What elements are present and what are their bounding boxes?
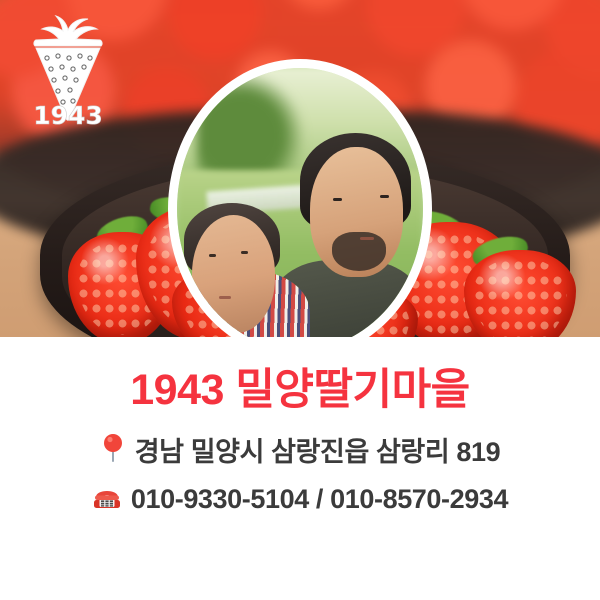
farmers-portrait (168, 59, 432, 337)
brand-logo: 1943 (16, 14, 120, 126)
address-text: 경남 밀양시 삼랑진읍 삼랑리 819 (135, 430, 501, 469)
foreground-strawberry (464, 250, 576, 337)
logo-year-text: 1943 (33, 101, 103, 126)
info-panel: 1943 밀양딸기마을 경남 밀양시 삼랑진읍 삼랑리 819 (0, 337, 600, 600)
woman-eye-right (241, 251, 248, 254)
man-eye-right (380, 195, 389, 198)
man-eye-left (333, 198, 342, 201)
phone-row: 010-9330-5104 / 010-8570-2934 (0, 483, 600, 515)
man-mouth (360, 237, 374, 240)
phone-text: 010-9330-5104 / 010-8570-2934 (131, 484, 508, 515)
promo-poster: 1943 1943 밀양딸기마을 (0, 0, 600, 600)
map-pin-icon (100, 433, 126, 467)
page-title: 1943 밀양딸기마을 (0, 355, 600, 417)
telephone-icon (92, 483, 122, 515)
woman-eye-left (209, 254, 216, 257)
address-row: 경남 밀양시 삼랑진읍 삼랑리 819 (0, 430, 600, 469)
woman-face (192, 215, 276, 333)
woman-mouth (219, 296, 231, 299)
photo-area: 1943 (0, 0, 600, 337)
